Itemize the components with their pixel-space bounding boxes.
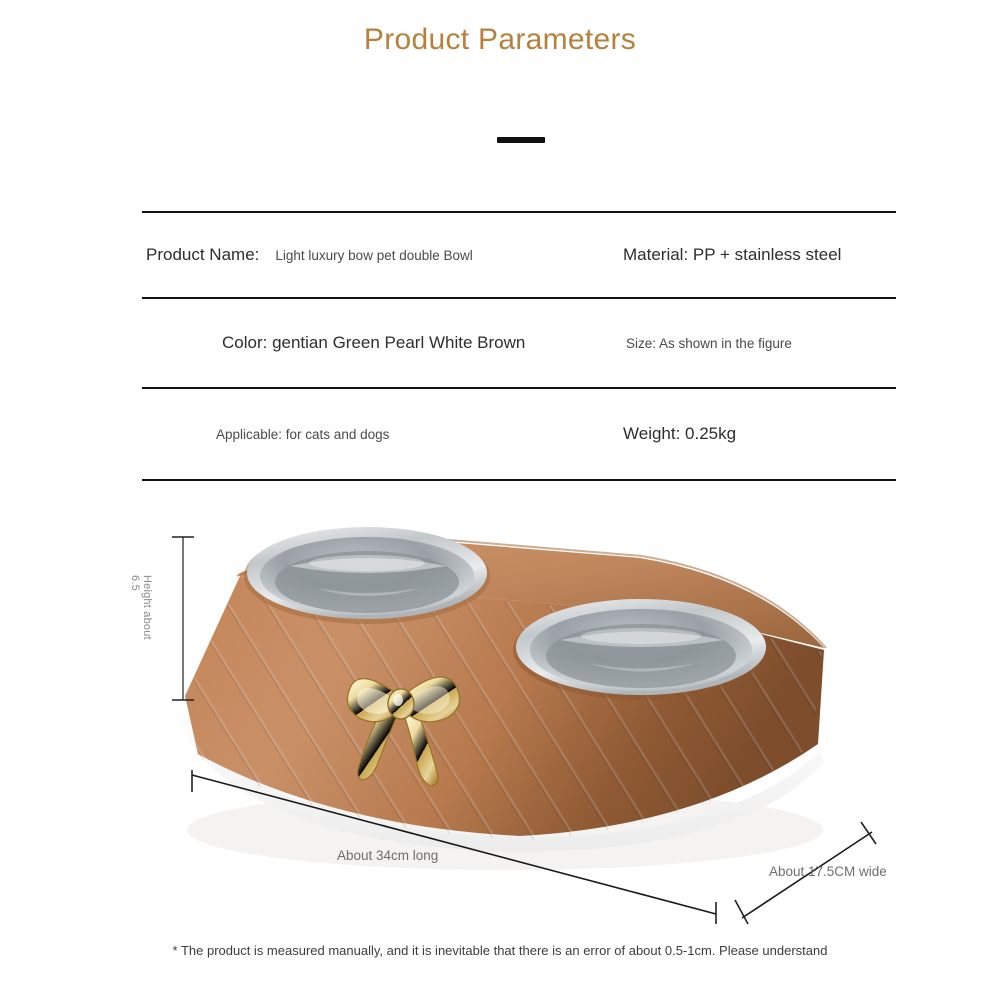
spec-table-rule-bottom <box>142 479 896 481</box>
spec-cell-color: Color: gentian Green Pearl White Brown <box>222 333 525 353</box>
height-dimension-line1: Height about <box>141 575 153 640</box>
height-dimension-line2: 6.5 <box>129 575 141 640</box>
color-label: Color: gentian Green Pearl White Brown <box>222 333 525 353</box>
spec-cell-material: Material: PP + stainless steel <box>623 245 841 265</box>
product-name-label: Product Name: <box>146 245 259 265</box>
table-row: Applicable: for cats and dogs Weight: 0.… <box>142 389 896 479</box>
length-dimension-label: About 34cm long <box>337 848 438 863</box>
height-dimension-label: Height about 6.5 <box>133 575 153 640</box>
bowl-right <box>513 599 769 700</box>
spec-cell-size: Size: As shown in the figure <box>626 336 792 351</box>
applicable-label: Applicable: for cats and dogs <box>216 427 389 442</box>
table-row: Color: gentian Green Pearl White Brown S… <box>142 299 896 387</box>
spec-table: Product Name: Light luxury bow pet doubl… <box>142 211 896 481</box>
width-dimension-label: About 17.5CM wide <box>769 864 887 879</box>
spec-cell-applicable: Applicable: for cats and dogs <box>216 427 389 442</box>
bowl-left <box>244 527 490 624</box>
spec-cell-product-name: Product Name: Light luxury bow pet doubl… <box>146 245 473 265</box>
measurement-disclaimer: * The product is measured manually, and … <box>0 943 1000 958</box>
spec-cell-weight: Weight: 0.25kg <box>623 424 736 444</box>
table-row: Product Name: Light luxury bow pet doubl… <box>142 213 896 297</box>
title-divider-bar <box>497 137 545 143</box>
page-title: Product Parameters <box>0 23 1000 57</box>
product-name-value: Light luxury bow pet double Bowl <box>275 248 472 263</box>
